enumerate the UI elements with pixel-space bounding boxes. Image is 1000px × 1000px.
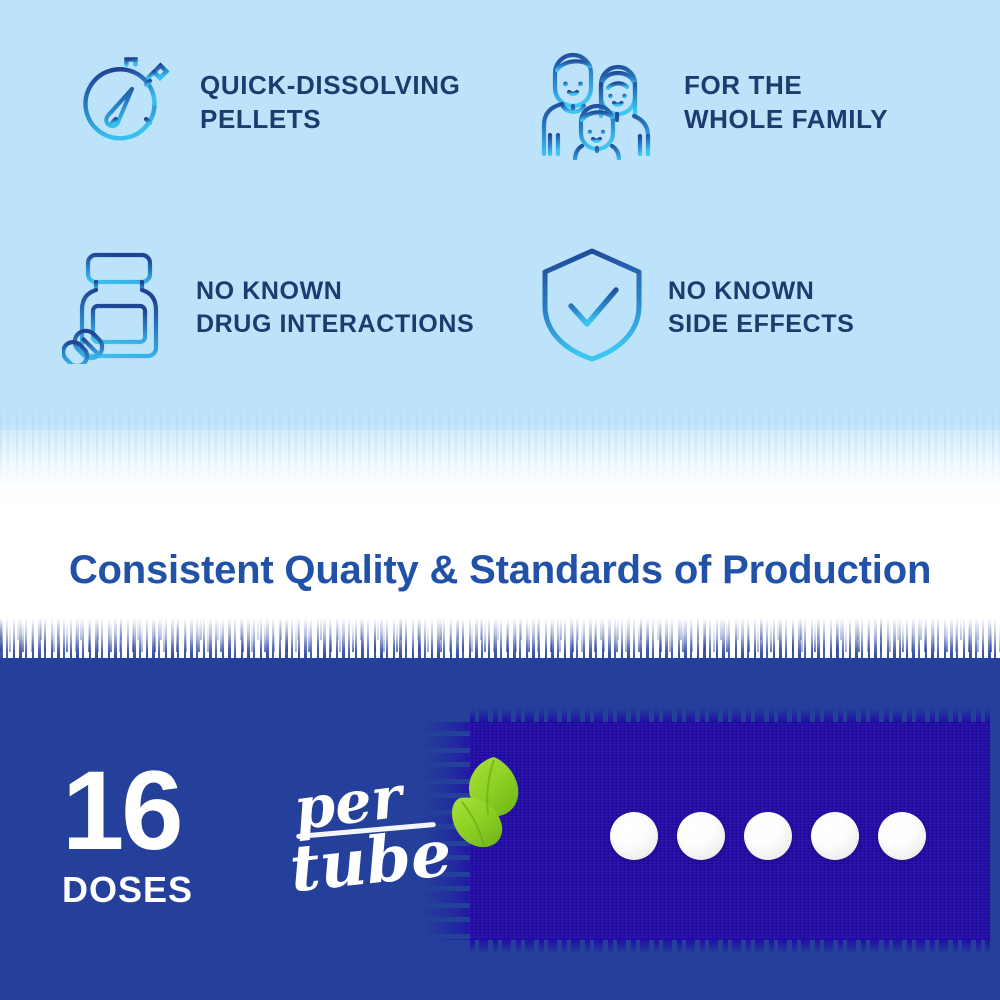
stopwatch-icon bbox=[62, 41, 178, 164]
pellet-row bbox=[610, 812, 926, 860]
script-line-tube: tube bbox=[287, 822, 454, 903]
pellet-sphere-icon bbox=[677, 812, 725, 860]
product-infographic: QUICK-DISSOLVING PELLETS bbox=[0, 0, 1000, 1000]
pellet-sphere-icon bbox=[878, 812, 926, 860]
watercolor-wash-top bbox=[0, 395, 1000, 520]
pellet-sphere-icon bbox=[610, 812, 658, 860]
doses-text-group: 16 DOSES per tube bbox=[62, 762, 193, 911]
feature-grid: QUICK-DISSOLVING PELLETS bbox=[0, 0, 1000, 410]
shield-check-icon bbox=[538, 244, 646, 371]
features-panel: QUICK-DISSOLVING PELLETS bbox=[0, 0, 1000, 430]
feature-label: QUICK-DISSOLVING PELLETS bbox=[200, 69, 460, 137]
doses-label: DOSES bbox=[62, 869, 193, 911]
feature-whole-family: FOR THE WHOLE FAMILY bbox=[500, 0, 1000, 205]
brush-patch-bottom-edge bbox=[470, 938, 990, 954]
family-icon bbox=[538, 40, 662, 165]
feature-label: NO KNOWN SIDE EFFECTS bbox=[668, 275, 854, 340]
pill-bottle-icon bbox=[62, 246, 174, 369]
mint-leaf-icon bbox=[442, 754, 524, 853]
feature-label: FOR THE WHOLE FAMILY bbox=[684, 69, 888, 137]
banner-title: Consistent Quality & Standards of Produc… bbox=[69, 548, 931, 593]
feature-quick-dissolving-pellets: QUICK-DISSOLVING PELLETS bbox=[0, 0, 500, 205]
feature-no-side-effects: NO KNOWN SIDE EFFECTS bbox=[500, 205, 1000, 410]
pellet-sphere-icon bbox=[744, 812, 792, 860]
feature-label: NO KNOWN DRUG INTERACTIONS bbox=[196, 275, 474, 340]
pellet-sphere-icon bbox=[811, 812, 859, 860]
dose-count: 16 bbox=[62, 762, 181, 861]
per-tube-script: per tube bbox=[290, 756, 480, 916]
dose-count-row: 16 bbox=[62, 762, 193, 861]
feature-no-drug-interactions: NO KNOWN DRUG INTERACTIONS bbox=[0, 205, 500, 410]
